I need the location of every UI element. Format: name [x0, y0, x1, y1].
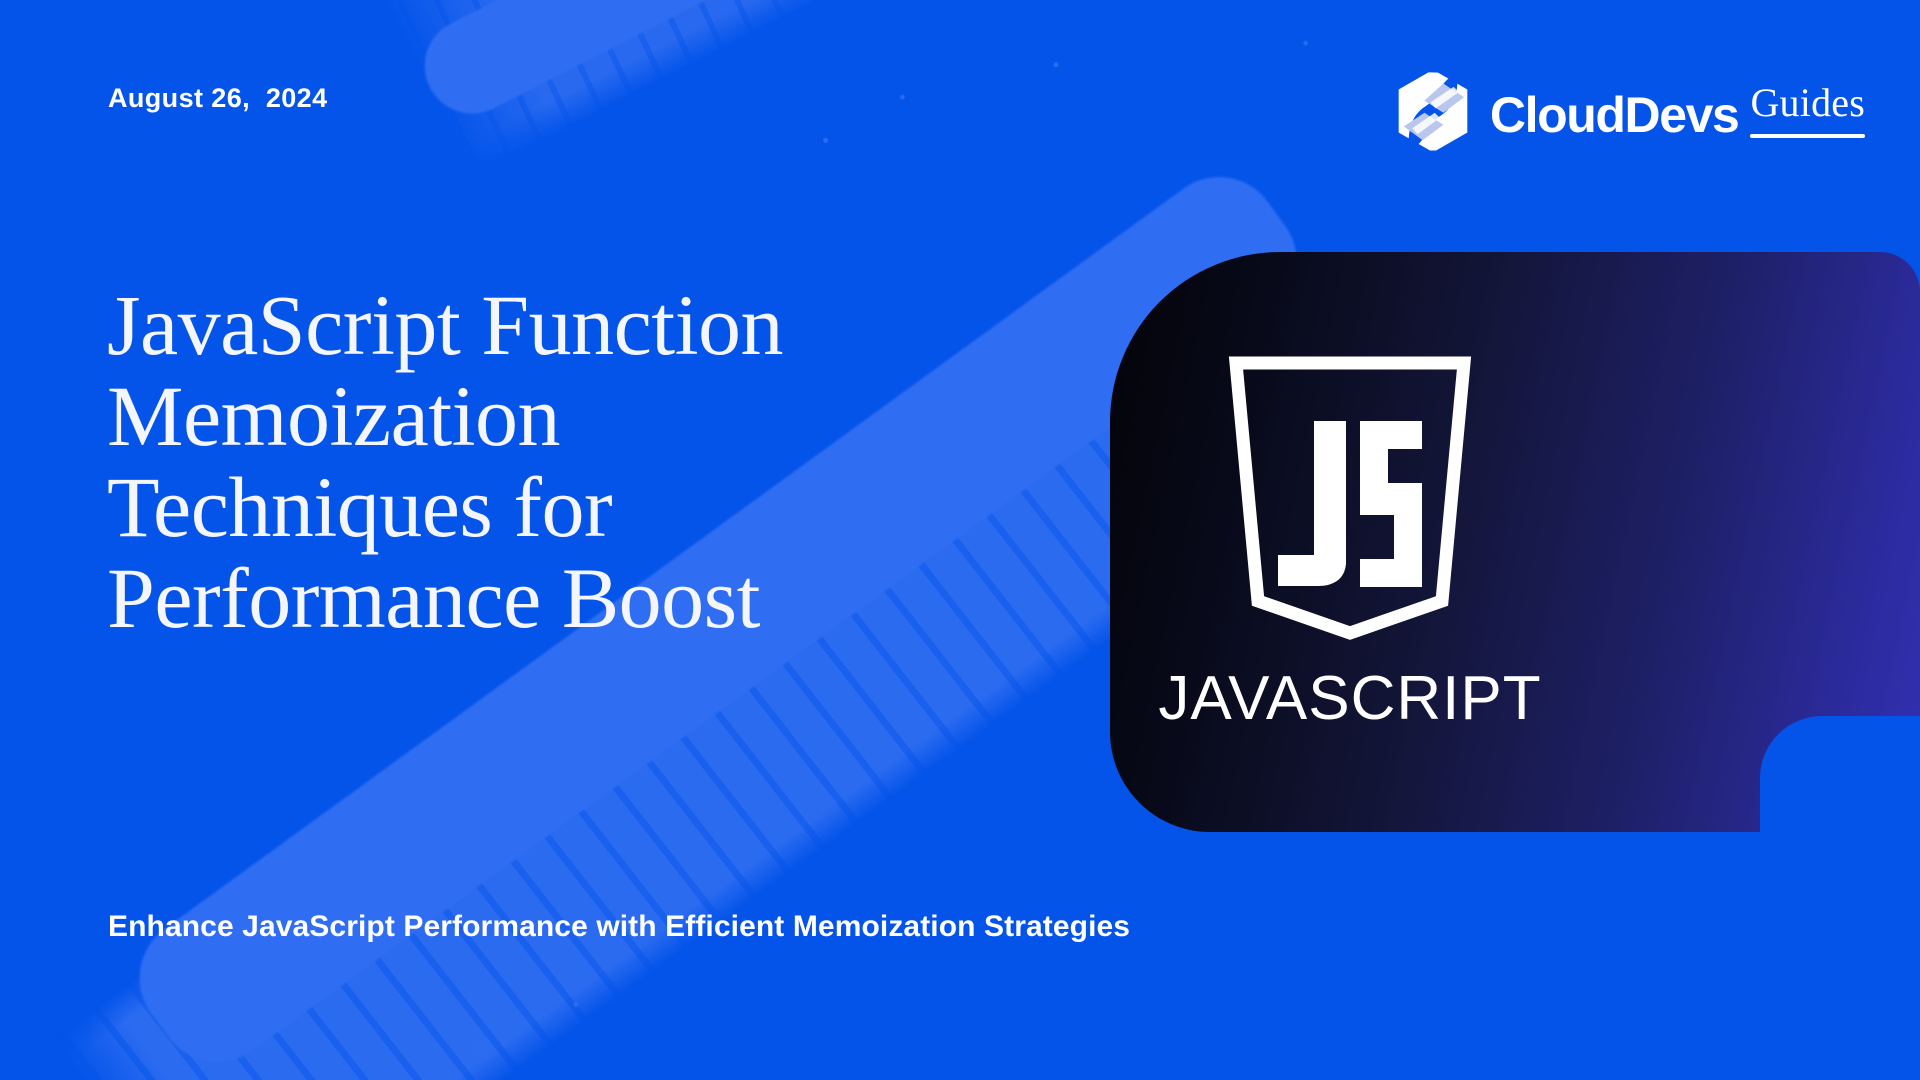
page-subtitle: Enhance JavaScript Performance with Effi…: [108, 905, 1308, 949]
brand-sub: Guides: [1750, 83, 1865, 123]
clouddevs-hexagon-logo-icon: [1390, 68, 1476, 154]
title-line: Memoization: [107, 371, 987, 462]
card-corner-notch: [1760, 716, 1920, 916]
brand-name: CloudDevs: [1490, 90, 1739, 140]
title-line: Performance Boost: [107, 553, 987, 644]
publish-date: August 26, 2024: [108, 83, 328, 114]
slide-canvas: August 26, 2024 CloudDevs Guides: [0, 0, 1920, 1080]
javascript-label: JAVASCRIPT: [1158, 668, 1541, 730]
brand-underline-rule: [1750, 134, 1865, 138]
javascript-shield-icon: [1226, 355, 1474, 640]
title-line: Techniques for: [107, 462, 987, 553]
brand-sub-wrap: Guides: [1750, 83, 1865, 140]
brand-text: CloudDevs Guides: [1490, 83, 1865, 140]
brand-lockup[interactable]: CloudDevs Guides: [1390, 68, 1865, 154]
page-title: JavaScript Function Memoization Techniqu…: [107, 280, 987, 645]
title-line: JavaScript Function: [107, 280, 987, 371]
